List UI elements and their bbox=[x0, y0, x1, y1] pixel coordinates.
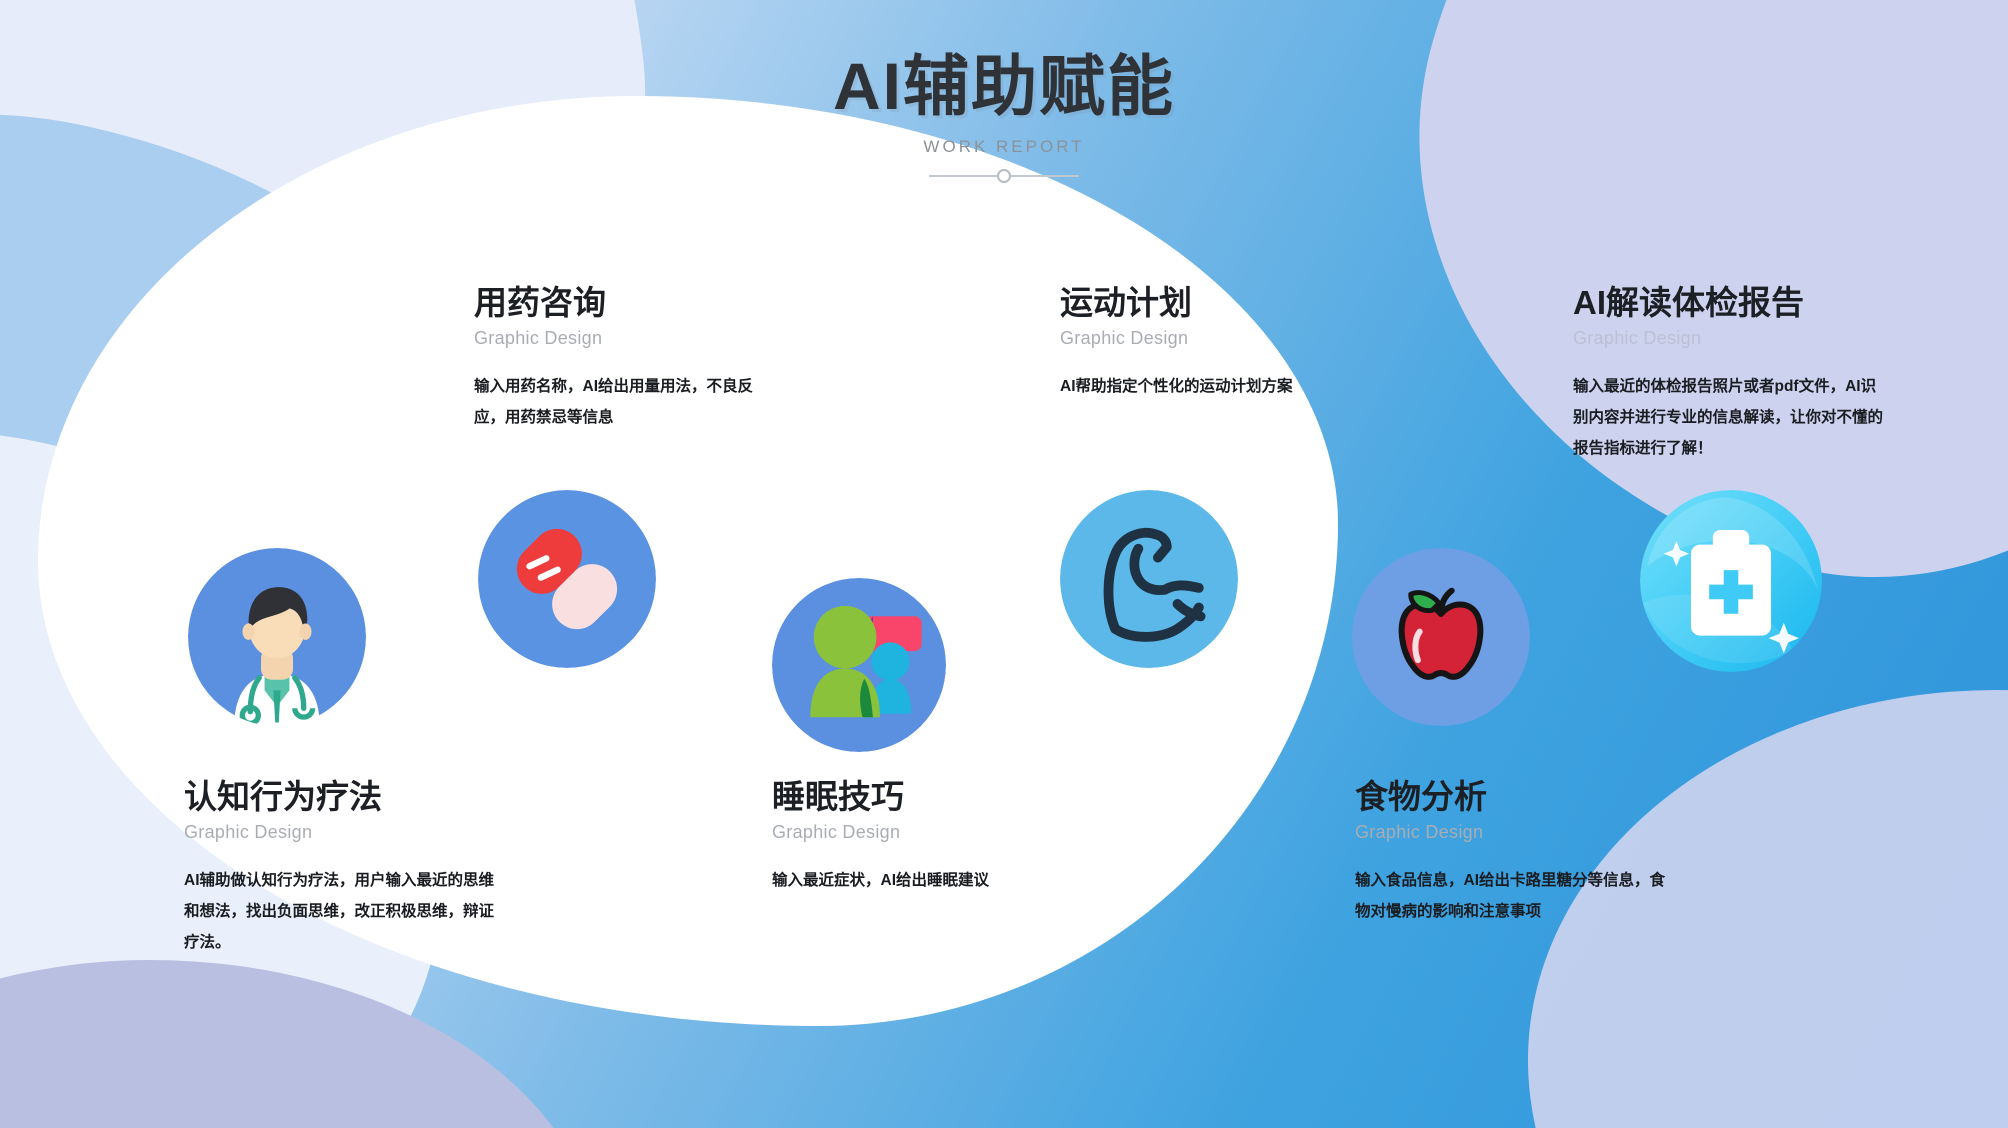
feature-medicine[interactable]: 用药咨询 Graphic Design 输入用药名称，AI给出用量用法，不良反应… bbox=[474, 284, 759, 433]
feature-title: 睡眠技巧 bbox=[772, 778, 1072, 817]
feature-title: 食物分析 bbox=[1355, 778, 1685, 817]
feature-sleep[interactable]: 睡眠技巧 Graphic Design 输入最近症状，AI给出睡眠建议 bbox=[772, 778, 1072, 896]
feature-description: 输入最近的体检报告照片或者pdf文件，AI识别内容并进行专业的信息解读，让你对不… bbox=[1573, 371, 1883, 464]
feature-subtitle: Graphic Design bbox=[772, 822, 1072, 843]
feature-description: 输入用药名称，AI给出用量用法，不良反应，用药禁忌等信息 bbox=[474, 371, 759, 433]
header-divider bbox=[929, 169, 1079, 183]
feature-exercise[interactable]: 运动计划 Graphic Design AI帮助指定个性化的运动计划方案 bbox=[1060, 284, 1350, 402]
feature-subtitle: Graphic Design bbox=[1573, 328, 1903, 349]
feature-subtitle: Graphic Design bbox=[1060, 328, 1350, 349]
two-people-talking-icon[interactable] bbox=[772, 578, 946, 752]
decor-blob-lavender-bottom-left bbox=[0, 960, 600, 1128]
feature-subtitle: Graphic Design bbox=[1355, 822, 1685, 843]
feature-title: 运动计划 bbox=[1060, 284, 1350, 323]
feature-description: AI帮助指定个性化的运动计划方案 bbox=[1060, 371, 1350, 402]
page-subtitle: WORK REPORT bbox=[0, 137, 2008, 157]
doctor-avatar-icon[interactable] bbox=[188, 548, 366, 726]
feature-subtitle: Graphic Design bbox=[474, 328, 759, 349]
feature-title: AI解读体检报告 bbox=[1573, 284, 1903, 323]
flexed-bicep-icon[interactable] bbox=[1060, 490, 1238, 668]
divider-dot-icon bbox=[997, 169, 1011, 183]
feature-description: 输入最近症状，AI给出睡眠建议 bbox=[772, 865, 1072, 896]
feature-cbt[interactable]: 认知行为疗法 Graphic Design AI辅助做认知行为疗法，用户输入最近… bbox=[184, 778, 514, 958]
slide-canvas: AI辅助赋能 WORK REPORT 用药咨询 Graphic Design 输… bbox=[0, 0, 2008, 1128]
apple-icon[interactable] bbox=[1352, 548, 1530, 726]
feature-report[interactable]: AI解读体检报告 Graphic Design 输入最近的体检报告照片或者pdf… bbox=[1573, 284, 1903, 464]
feature-title: 认知行为疗法 bbox=[184, 778, 514, 817]
medical-clipboard-icon[interactable] bbox=[1640, 490, 1822, 672]
feature-description: AI辅助做认知行为疗法，用户输入最近的思维和想法，找出负面思维，改正积极思维，辩… bbox=[184, 865, 499, 958]
page-title: AI辅助赋能 bbox=[0, 52, 2008, 121]
feature-food[interactable]: 食物分析 Graphic Design 输入食品信息，AI给出卡路里糖分等信息，… bbox=[1355, 778, 1685, 927]
pill-icon[interactable] bbox=[478, 490, 656, 668]
slide-header: AI辅助赋能 WORK REPORT bbox=[0, 52, 2008, 183]
feature-description: 输入食品信息，AI给出卡路里糖分等信息，食物对慢病的影响和注意事项 bbox=[1355, 865, 1675, 927]
feature-title: 用药咨询 bbox=[474, 284, 759, 323]
feature-subtitle: Graphic Design bbox=[184, 822, 514, 843]
